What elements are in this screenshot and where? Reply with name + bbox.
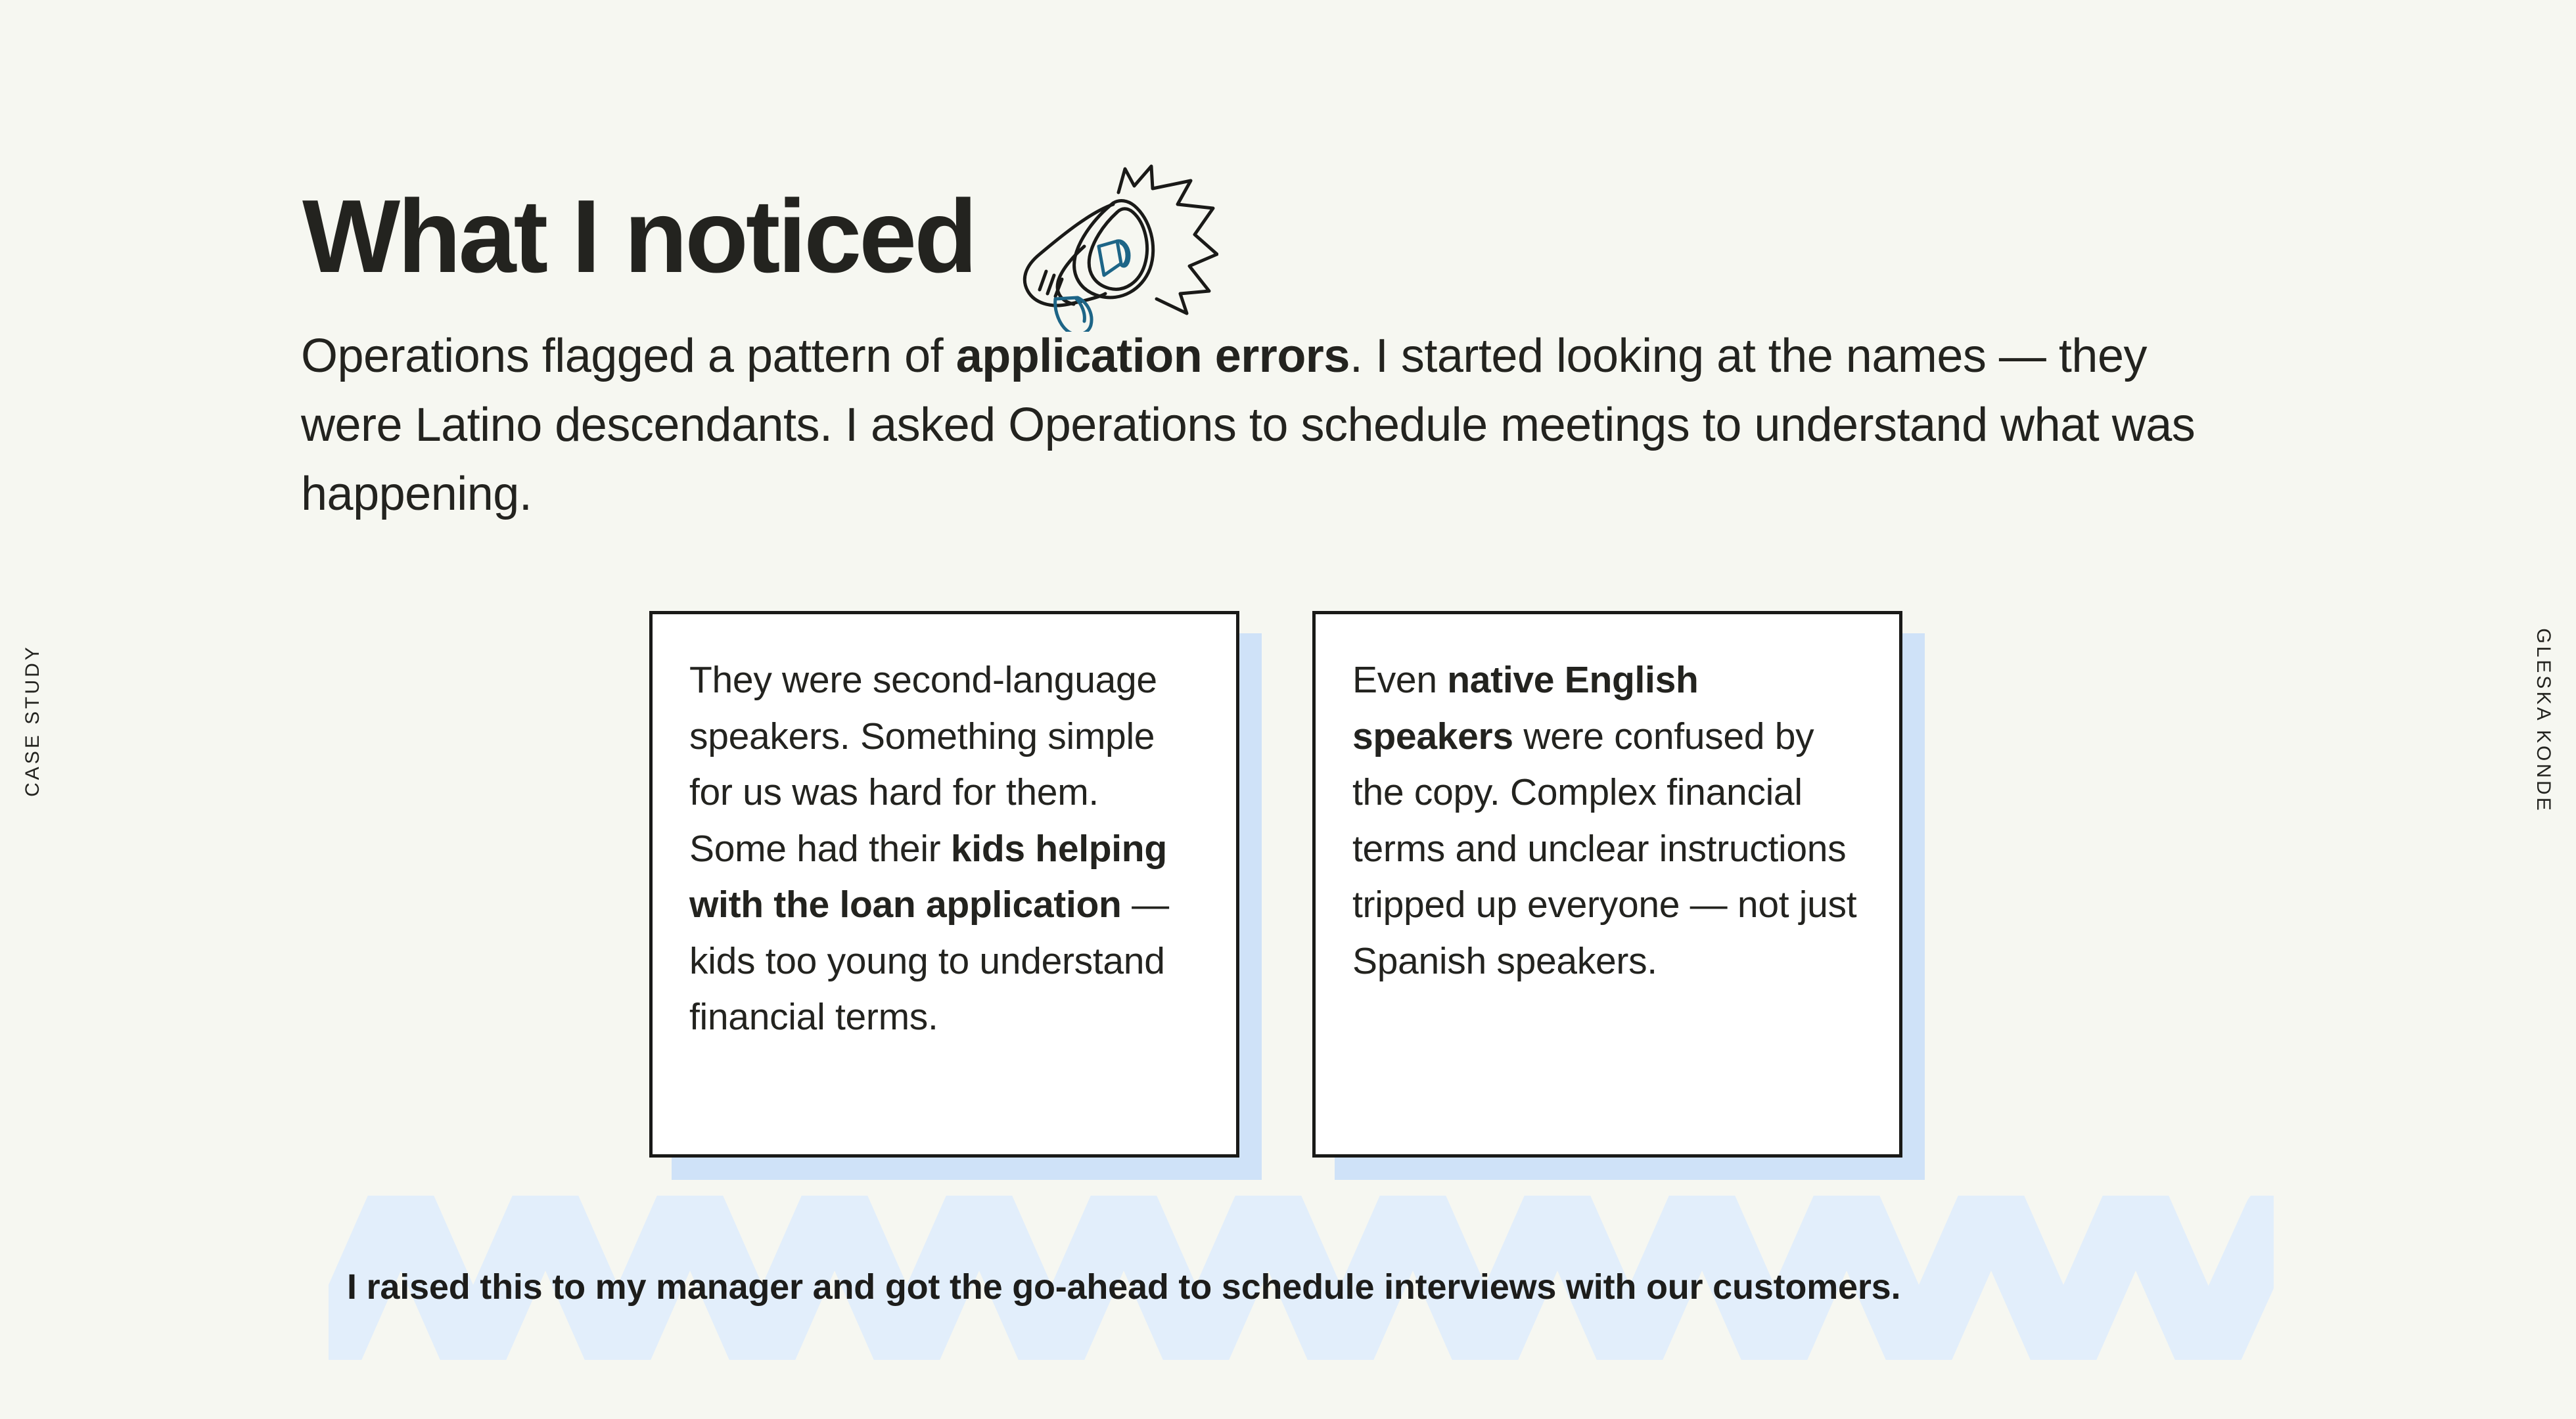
card-text: They were second-language speakers. Some…	[689, 652, 1199, 1046]
side-label-case-study: CASE STUDY	[22, 616, 44, 826]
footer-caption: I raised this to my manager and got the …	[347, 1267, 1900, 1307]
card-text-part1: Even	[1352, 659, 1447, 701]
second-language-speakers-card: They were second-language speakers. Some…	[649, 611, 1239, 1158]
intro-text-part1: Operations flagged a pattern of	[301, 330, 956, 382]
slide-root: CASE STUDY GLESKA KONDE What I noticed	[0, 0, 2576, 1419]
card-text: Even native English speakers were confus…	[1352, 652, 1862, 989]
native-english-speakers-card: Even native English speakers were confus…	[1312, 611, 1902, 1158]
card-body: They were second-language speakers. Some…	[649, 611, 1239, 1158]
page-title-row: What I noticed	[302, 141, 1218, 332]
side-label-gleska-konde: GLESKA KONDE	[2532, 616, 2554, 826]
intro-paragraph: Operations flagged a pattern of applicat…	[301, 322, 2246, 529]
megaphone-icon	[1008, 141, 1218, 332]
intro-text-bold1: application errors	[956, 330, 1350, 382]
page-title: What I noticed	[302, 185, 975, 288]
card-body: Even native English speakers were confus…	[1312, 611, 1902, 1158]
